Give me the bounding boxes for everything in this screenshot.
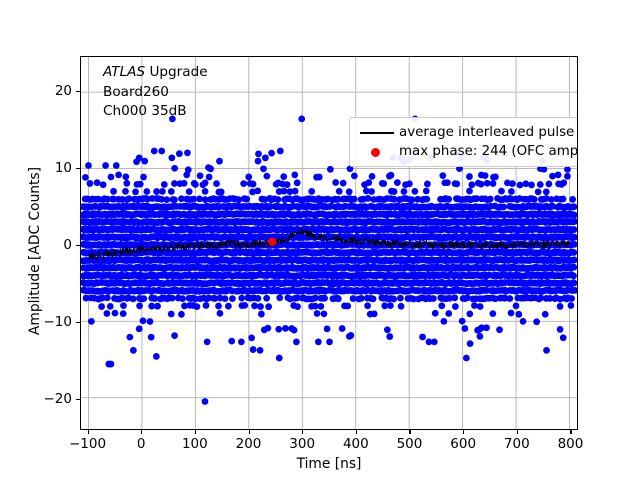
x-tick-mark: [356, 430, 357, 434]
y-tick-label: −10: [14, 314, 72, 330]
y-tick-mark: [76, 399, 80, 400]
annotation-experiment: ATLAS: [103, 64, 145, 80]
legend-entry-max-phase: max phase: 244 (OFC amp=0.427): [355, 142, 578, 161]
annotation-program: Upgrade: [145, 64, 207, 80]
x-tick-mark: [463, 430, 464, 434]
x-tick-label: 600: [450, 436, 476, 452]
x-tick-label: 500: [397, 436, 423, 452]
annotation-line-channel: Ch000 35dB: [103, 102, 208, 122]
x-tick-label: 400: [343, 436, 369, 452]
y-tick-mark: [76, 322, 80, 323]
legend-label-average-pulse: average interleaved pulse 0.391mA: [399, 125, 578, 140]
x-tick-label: 0: [137, 436, 146, 452]
x-tick-mark: [302, 430, 303, 434]
x-tick-label: −100: [69, 436, 106, 452]
y-tick-mark: [76, 91, 80, 92]
legend-box: average interleaved pulse 0.391mA max ph…: [349, 117, 578, 167]
x-axis-label: Time [ns]: [80, 456, 578, 472]
x-tick-mark: [570, 430, 571, 434]
y-tick-label: 10: [14, 160, 72, 176]
y-tick-label: 20: [14, 83, 72, 99]
y-tick-mark: [76, 245, 80, 246]
y-tick-mark: [76, 168, 80, 169]
y-tick-label: −20: [14, 391, 72, 407]
x-tick-label: 700: [504, 436, 530, 452]
legend-dot-swatch: [355, 142, 399, 161]
legend-entry-average-pulse: average interleaved pulse 0.391mA: [355, 123, 578, 142]
legend-label-max-phase: max phase: 244 (OFC amp=0.427): [399, 144, 578, 159]
x-tick-mark: [141, 430, 142, 434]
x-tick-label: 800: [558, 436, 584, 452]
plot-annotation: ATLAS Upgrade Board260 Ch000 35dB: [103, 63, 208, 122]
x-tick-mark: [195, 430, 196, 434]
y-axis-label: Amplitude [ADC Counts]: [27, 64, 43, 438]
x-tick-mark: [249, 430, 250, 434]
legend-dot-icon: [371, 148, 380, 157]
x-tick-label: 200: [236, 436, 262, 452]
y-tick-label: 0: [14, 237, 72, 253]
legend-line-icon: [360, 132, 394, 134]
annotation-line-experiment: ATLAS Upgrade: [103, 63, 208, 83]
x-tick-mark: [517, 430, 518, 434]
annotation-line-board: Board260: [103, 83, 208, 103]
legend-line-swatch: [355, 123, 399, 142]
x-tick-label: 100: [182, 436, 208, 452]
x-tick-label: 300: [289, 436, 315, 452]
x-tick-mark: [88, 430, 89, 434]
plot-area: ATLAS Upgrade Board260 Ch000 35dB averag…: [80, 56, 578, 430]
x-tick-mark: [409, 430, 410, 434]
figure-canvas: ATLAS Upgrade Board260 Ch000 35dB averag…: [0, 0, 640, 480]
